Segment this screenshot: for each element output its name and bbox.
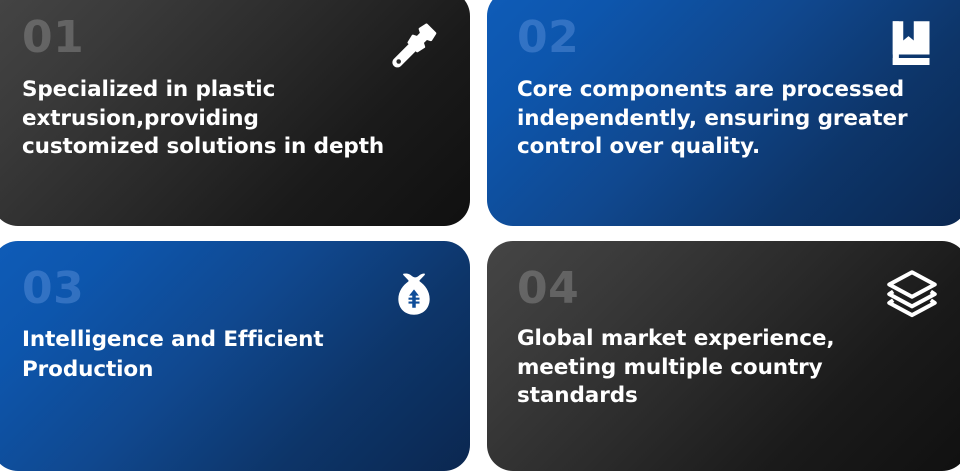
card-number-04: 04	[517, 267, 938, 311]
feature-card-03[interactable]: 03 Intelligence and Efficient Production	[0, 241, 470, 471]
card-headline-02: Core components are processed independen…	[517, 76, 937, 162]
card-number-01: 01	[22, 16, 440, 60]
money-bag-yen-icon	[386, 267, 442, 323]
card-headline-01: Specialized in plastic extrusion,providi…	[22, 76, 392, 162]
layers-stack-icon	[884, 267, 940, 323]
card-headline-04: Global market experience, meeting multip…	[517, 325, 937, 411]
card-headline-03: Intelligence and Efficient Production	[22, 325, 392, 384]
card-number-02: 02	[517, 16, 938, 60]
wrench-icon	[386, 16, 442, 72]
bookmark-book-icon	[884, 16, 940, 72]
feature-card-01[interactable]: 01 Specialized in plastic extrusion,prov…	[0, 0, 470, 226]
feature-card-grid: 01 Specialized in plastic extrusion,prov…	[0, 0, 960, 459]
card-number-03: 03	[22, 267, 440, 311]
feature-card-02[interactable]: 02 Core components are processed indepen…	[487, 0, 960, 226]
feature-card-04[interactable]: 04 Global market experience, meeting mul…	[487, 241, 960, 471]
